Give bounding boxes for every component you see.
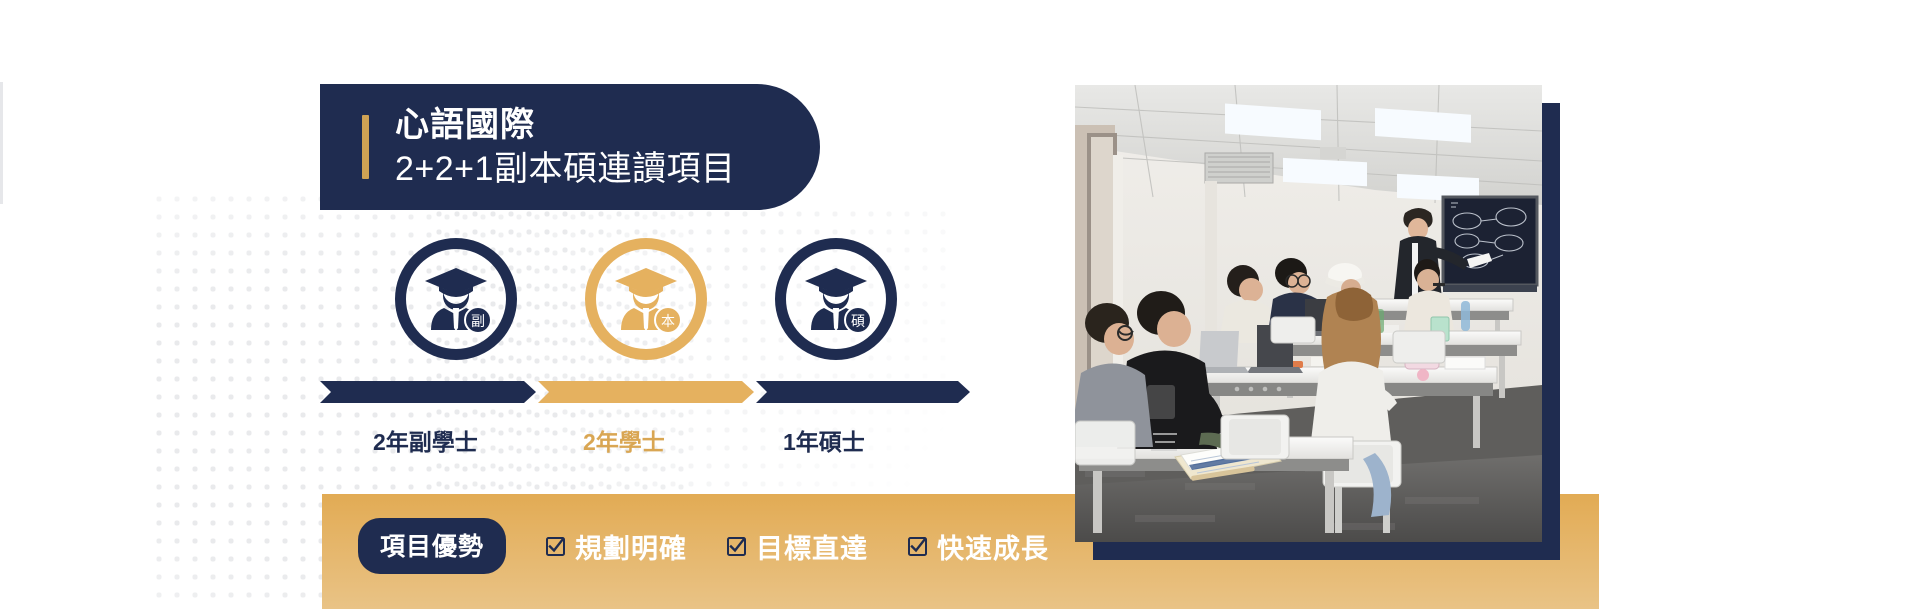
step-label-master: 1年碩士: [783, 423, 865, 457]
advantage-item-1: 規劃明確: [546, 527, 687, 566]
promo-banner: 心語國際 2+2+1副本碩連讀項目: [0, 0, 1920, 609]
step-badge-text: 本: [661, 313, 675, 329]
graduate-icon-master: 碩: [797, 264, 875, 334]
advantage-item-2: 目標直達: [727, 527, 868, 566]
advantage-label-2: 目標直達: [756, 527, 868, 566]
progress-segment-1: [320, 381, 536, 403]
checkbox-checked-icon: [908, 537, 927, 556]
step-circle-master: 碩: [775, 238, 897, 360]
program-steps: 副 本: [355, 238, 1075, 438]
brand-name: 心語國際: [395, 105, 735, 145]
title-text-group: 心語國際 2+2+1副本碩連讀項目: [395, 105, 735, 188]
step-circle-bachelor: 本: [585, 238, 707, 360]
progress-track: [320, 381, 970, 403]
progress-segment-2: [538, 381, 754, 403]
advantage-item-3: 快速成長: [908, 527, 1049, 566]
step-badge-text: 碩: [851, 313, 865, 329]
advantages-badge: 項目優勢: [358, 518, 506, 574]
progress-segment-3: [756, 381, 970, 403]
step-badge-text: 副: [471, 313, 485, 329]
advantages-row: 項目優勢 規劃明確 目標直達: [358, 518, 1049, 574]
step-label-bachelor: 2年學士: [583, 423, 665, 457]
title-banner: 心語國際 2+2+1副本碩連讀項目: [320, 84, 820, 210]
graduate-icon-associate: 副: [417, 264, 495, 334]
title-accent-bar: [362, 115, 369, 179]
advantage-label-3: 快速成長: [937, 527, 1049, 566]
classroom-photo: [1075, 85, 1542, 542]
program-name: 2+2+1副本碩連讀項目: [395, 149, 735, 189]
step-label-associate: 2年副學士: [373, 423, 478, 457]
left-edge-rule: [0, 82, 3, 204]
photo-block: [1075, 85, 1560, 560]
graduate-icon-bachelor: 本: [607, 264, 685, 334]
step-circle-associate: 副: [395, 238, 517, 360]
checkbox-checked-icon: [546, 537, 565, 556]
advantage-label-1: 規劃明確: [575, 527, 687, 566]
checkbox-checked-icon: [727, 537, 746, 556]
